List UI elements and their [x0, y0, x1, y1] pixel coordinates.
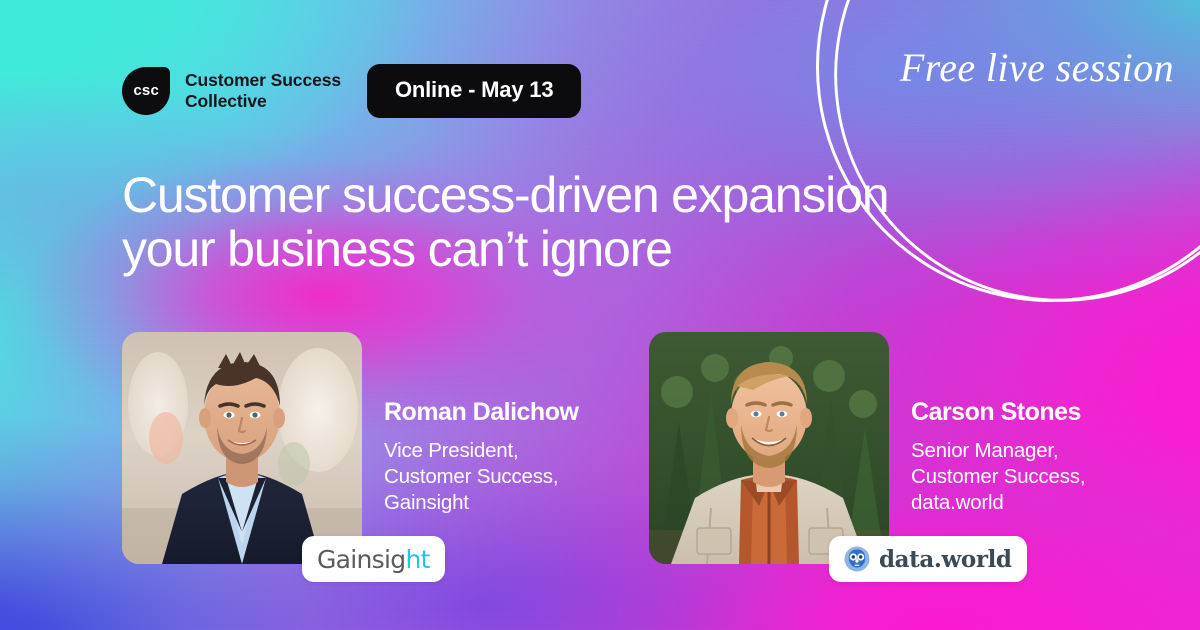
brand-name-line1: Customer Success — [185, 70, 341, 91]
date-pill[interactable]: Online - May 13 — [367, 64, 581, 118]
speaker-details: Carson Stones Senior Manager, Customer S… — [889, 332, 1085, 517]
brand-name-line2: Collective — [185, 91, 341, 112]
speaker-card: data.world Carson Stones Senior Manager,… — [649, 332, 1154, 564]
avatar — [122, 332, 362, 564]
speaker-role: Senior Manager, Customer Success, data.w… — [911, 438, 1085, 517]
dataworld-owl-icon — [844, 546, 870, 572]
speaker-role-line1: Vice President, — [384, 438, 578, 464]
speaker-role-line3: data.world — [911, 490, 1085, 516]
speaker-photo-carson — [649, 332, 889, 564]
speaker-name: Roman Dalichow — [384, 400, 578, 425]
csc-logo-text: csc — [133, 84, 159, 99]
speaker-role: Vice President, Customer Success, Gainsi… — [384, 438, 578, 517]
dataworld-logo-icon: data.world — [844, 546, 1012, 573]
speaker-photo-roman — [122, 332, 362, 564]
free-live-session-label: Free live session — [900, 44, 1174, 91]
headline-line1: Customer success-driven expansion — [122, 168, 1002, 222]
dataworld-logo-text: data.world — [879, 546, 1012, 573]
csc-logo-icon: csc — [122, 67, 170, 115]
company-logo-badge: data.world — [829, 536, 1027, 582]
speaker-photo-wrap: Gainsig ht — [122, 332, 362, 564]
brand-lockup[interactable]: csc Customer Success Collective — [122, 67, 341, 115]
gainsight-logo-dark: Gainsig — [317, 545, 405, 574]
speaker-photo-wrap: data.world — [649, 332, 889, 564]
speaker-list: Gainsig ht Roman Dalichow Vice President… — [122, 332, 1154, 564]
gainsight-logo-icon: Gainsig ht — [317, 545, 430, 574]
speaker-name: Carson Stones — [911, 400, 1085, 425]
speaker-card: Gainsig ht Roman Dalichow Vice President… — [122, 332, 627, 564]
avatar — [649, 332, 889, 564]
speaker-role-line2: Customer Success, — [911, 464, 1085, 490]
speaker-role-line3: Gainsight — [384, 490, 578, 516]
speaker-details: Roman Dalichow Vice President, Customer … — [362, 332, 578, 517]
webinar-promo-poster: Free live session csc Customer Success C… — [0, 0, 1200, 630]
company-logo-badge: Gainsig ht — [302, 536, 445, 582]
poster-header: csc Customer Success Collective Online -… — [122, 64, 581, 118]
speaker-role-line1: Senior Manager, — [911, 438, 1085, 464]
gainsight-logo-accent: ht — [405, 545, 429, 574]
headline-line2: your business can’t ignore — [122, 222, 1002, 276]
speaker-role-line2: Customer Success, — [384, 464, 578, 490]
page-title: Customer success-driven expansion your b… — [122, 168, 1002, 276]
brand-name: Customer Success Collective — [185, 70, 341, 111]
